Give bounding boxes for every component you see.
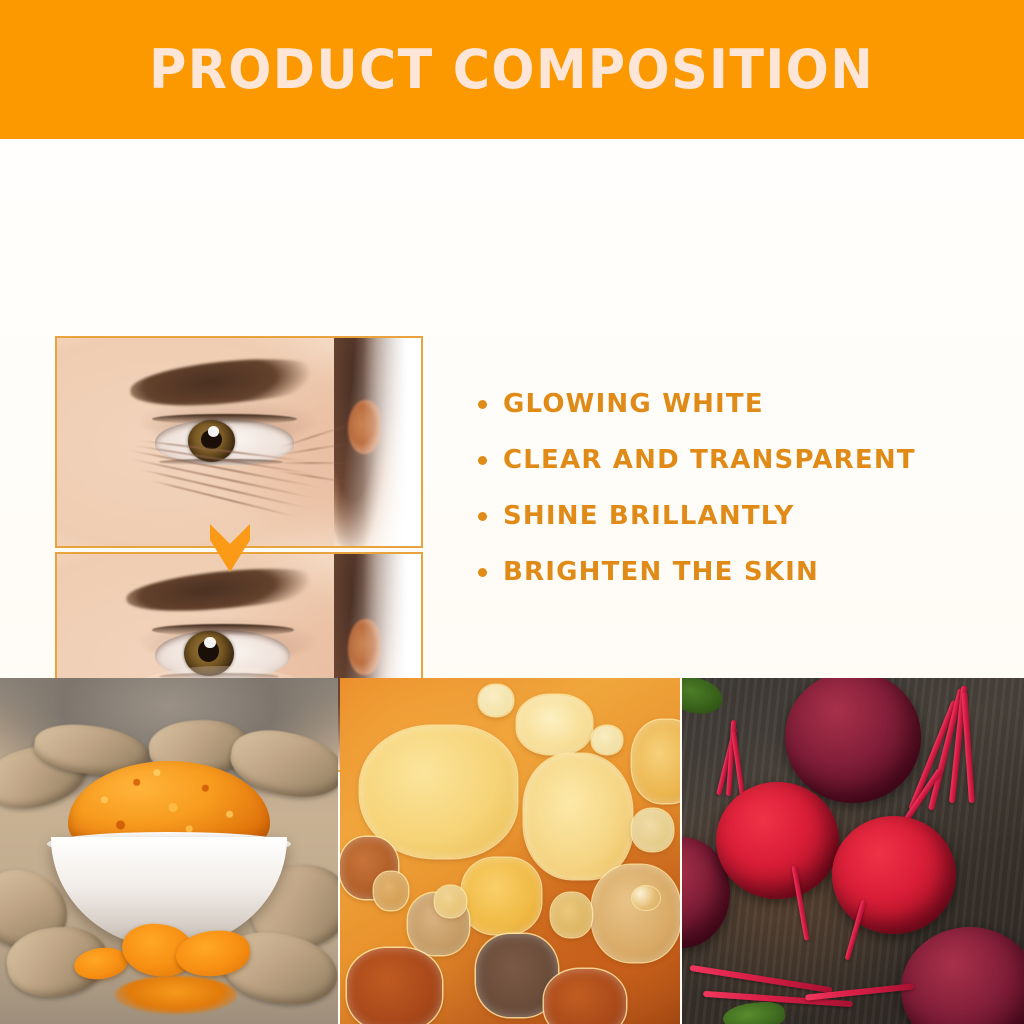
oil-bubble bbox=[374, 872, 408, 910]
tiny-bubble-cluster bbox=[632, 886, 659, 910]
turmeric-powder-photo bbox=[0, 678, 338, 1024]
oil-bubble bbox=[632, 720, 680, 803]
list-item: GLOWING WHITE bbox=[478, 389, 998, 419]
golden-oil-bubbles-photo bbox=[340, 678, 680, 1024]
ingredients-strip bbox=[0, 678, 1024, 1024]
oil-bubble bbox=[462, 858, 540, 934]
benefit-label: SHINE BRILLANTLY bbox=[503, 501, 795, 531]
eye-glint bbox=[204, 637, 215, 648]
before-eye-photo bbox=[57, 338, 421, 546]
page-title: PRODUCT COMPOSITION bbox=[149, 38, 874, 101]
beetroot bbox=[832, 816, 955, 934]
benefit-label: CLEAR AND TRANSPARENT bbox=[503, 445, 916, 475]
bullet-dot-icon bbox=[478, 400, 487, 409]
oil-bubble bbox=[551, 893, 592, 938]
oil-bubble bbox=[524, 754, 633, 879]
oil-bubble bbox=[632, 809, 673, 851]
benefits-list: GLOWING WHITE CLEAR AND TRANSPARENT SHIN… bbox=[478, 389, 998, 613]
down-arrow-icon bbox=[208, 522, 252, 574]
list-item: CLEAR AND TRANSPARENT bbox=[478, 445, 998, 475]
oil-bubble bbox=[479, 685, 513, 716]
beetroot-photo bbox=[682, 678, 1024, 1024]
oil-bubble bbox=[347, 948, 442, 1024]
benefit-label: BRIGHTEN THE SKIN bbox=[503, 557, 819, 587]
list-item: BRIGHTEN THE SKIN bbox=[478, 557, 998, 587]
bullet-dot-icon bbox=[478, 456, 487, 465]
list-item: SHINE BRILLANTLY bbox=[478, 501, 998, 531]
header-banner: PRODUCT COMPOSITION bbox=[0, 0, 1024, 139]
oil-bubble bbox=[544, 969, 626, 1024]
bullet-dot-icon bbox=[478, 512, 487, 521]
oil-bubble bbox=[592, 726, 623, 754]
comparison-section: GLOWING WHITE CLEAR AND TRANSPARENT SHIN… bbox=[0, 139, 1024, 678]
upper-lash bbox=[152, 624, 294, 636]
bullet-dot-icon bbox=[478, 568, 487, 577]
product-composition-infographic: PRODUCT COMPOSITION bbox=[0, 0, 1024, 1024]
beetroot bbox=[716, 782, 839, 900]
oil-bubble bbox=[360, 726, 516, 857]
oil-bubble bbox=[592, 865, 680, 962]
beetroot bbox=[785, 678, 922, 803]
oil-bubble bbox=[517, 695, 592, 754]
oil-bubble bbox=[435, 886, 466, 917]
eye-glint bbox=[208, 426, 219, 436]
crows-feet bbox=[275, 430, 355, 501]
before-photo-frame bbox=[55, 336, 423, 548]
benefit-label: GLOWING WHITE bbox=[503, 389, 764, 419]
photo-edge-fade bbox=[363, 338, 421, 546]
spilled-powder bbox=[115, 976, 237, 1014]
